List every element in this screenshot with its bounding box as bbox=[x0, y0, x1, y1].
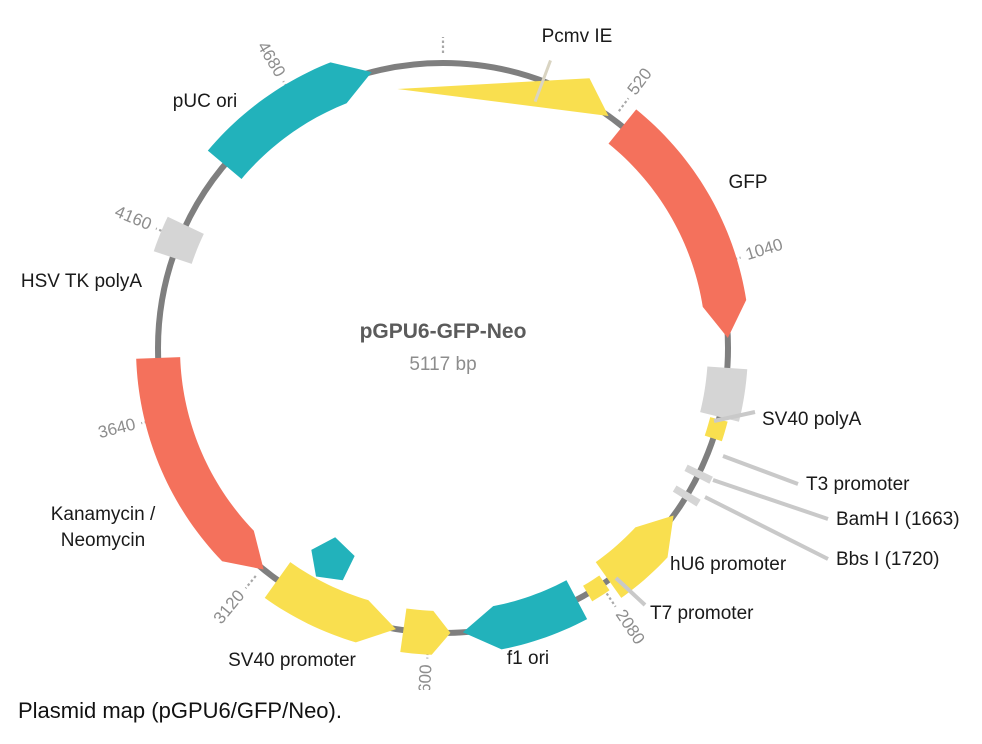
unlabeled-feature-marker[interactable] bbox=[311, 537, 354, 580]
feature-label-line: BamH I (1663) bbox=[836, 509, 960, 530]
plasmid-feature[interactable] bbox=[400, 608, 450, 654]
feature-label[interactable]: BamH I (1663) bbox=[836, 509, 960, 530]
tick-mark bbox=[607, 593, 616, 606]
feature-label[interactable]: hU6 promoter bbox=[670, 554, 787, 575]
tick-label: 2080 bbox=[612, 606, 649, 648]
leader-line bbox=[705, 497, 828, 559]
tick-label: 520 bbox=[624, 64, 656, 98]
feature-label[interactable]: Kanamycin /Neomycin bbox=[51, 504, 156, 551]
feature-label[interactable]: T3 promoter bbox=[806, 474, 910, 495]
feature-label-line: Neomycin bbox=[61, 530, 145, 551]
feature-label-line: hU6 promoter bbox=[670, 554, 787, 575]
tick-label: 4680 bbox=[254, 38, 290, 80]
tick-label: 4160 bbox=[112, 202, 154, 234]
feature-label[interactable]: f1 ori bbox=[507, 648, 549, 669]
feature-shape[interactable] bbox=[400, 608, 450, 654]
feature-shape[interactable] bbox=[463, 580, 587, 649]
plasmid-length-label: 5117 bp bbox=[409, 354, 476, 375]
plasmid-feature[interactable] bbox=[154, 217, 204, 264]
feature-label-line: T7 promoter bbox=[650, 603, 754, 624]
feature-shape[interactable] bbox=[154, 217, 204, 264]
feature-label-line: Kanamycin / bbox=[51, 504, 156, 525]
feature-shape[interactable] bbox=[397, 78, 608, 116]
feature-label-line: T3 promoter bbox=[806, 474, 910, 495]
feature-label-line: SV40 promoter bbox=[228, 650, 356, 671]
feature-label-line: Pcmv IE bbox=[542, 26, 613, 47]
plasmid-feature[interactable] bbox=[609, 109, 747, 338]
plasmid-feature[interactable] bbox=[463, 580, 587, 649]
feature-label[interactable]: Bbs I (1720) bbox=[836, 549, 940, 570]
feature-labels-group: Pcmv IEGFPSV40 polyAT3 promoterBamH I (1… bbox=[21, 26, 960, 671]
plasmid-diagram: Pcmv IEGFPSV40 polyAT3 promoterBamH I (1… bbox=[0, 0, 982, 690]
feature-shape[interactable] bbox=[136, 357, 263, 569]
feature-label-line: f1 ori bbox=[507, 648, 549, 669]
tick-label: 2600 bbox=[415, 664, 436, 690]
center-label-group: pGPU6-GFP-Neo 5117 bp bbox=[360, 320, 527, 375]
tick-label: 3640 bbox=[96, 414, 137, 442]
plasmid-feature[interactable] bbox=[596, 516, 674, 598]
plasmid-name-label: pGPU6-GFP-Neo bbox=[360, 320, 527, 343]
feature-label[interactable]: T7 promoter bbox=[650, 603, 754, 624]
plasmid-feature[interactable] bbox=[673, 486, 701, 507]
feature-label[interactable]: SV40 promoter bbox=[228, 650, 356, 671]
feature-label-line: SV40 polyA bbox=[762, 409, 862, 430]
feature-shape[interactable] bbox=[673, 486, 701, 507]
feature-shape[interactable] bbox=[208, 62, 372, 179]
feature-label[interactable]: Pcmv IE bbox=[542, 26, 613, 47]
feature-label-line: GFP bbox=[728, 172, 767, 193]
feature-label[interactable]: SV40 polyA bbox=[762, 409, 862, 430]
tick-mark bbox=[246, 576, 256, 588]
feature-label-line: HSV TK polyA bbox=[21, 271, 142, 292]
plasmid-feature[interactable] bbox=[208, 62, 372, 179]
feature-label-line: Bbs I (1720) bbox=[836, 549, 940, 570]
tick-label: 3120 bbox=[210, 586, 249, 627]
tick-label: 1040 bbox=[743, 235, 785, 264]
feature-shape[interactable] bbox=[609, 109, 747, 338]
plasmid-map-figure: Pcmv IEGFPSV40 polyAT3 promoterBamH I (1… bbox=[0, 0, 982, 690]
plasmid-feature[interactable] bbox=[136, 357, 263, 569]
leader-line bbox=[723, 456, 798, 484]
figure-caption: Plasmid map (pGPU6/GFP/Neo). bbox=[18, 698, 342, 724]
feature-label[interactable]: GFP bbox=[728, 172, 767, 193]
plasmid-feature[interactable] bbox=[311, 537, 354, 580]
feature-label[interactable]: pUC ori bbox=[173, 91, 237, 112]
tick-mark bbox=[619, 98, 629, 111]
feature-label-line: pUC ori bbox=[173, 91, 237, 112]
feature-shape[interactable] bbox=[596, 516, 674, 598]
feature-label[interactable]: HSV TK polyA bbox=[21, 271, 142, 292]
